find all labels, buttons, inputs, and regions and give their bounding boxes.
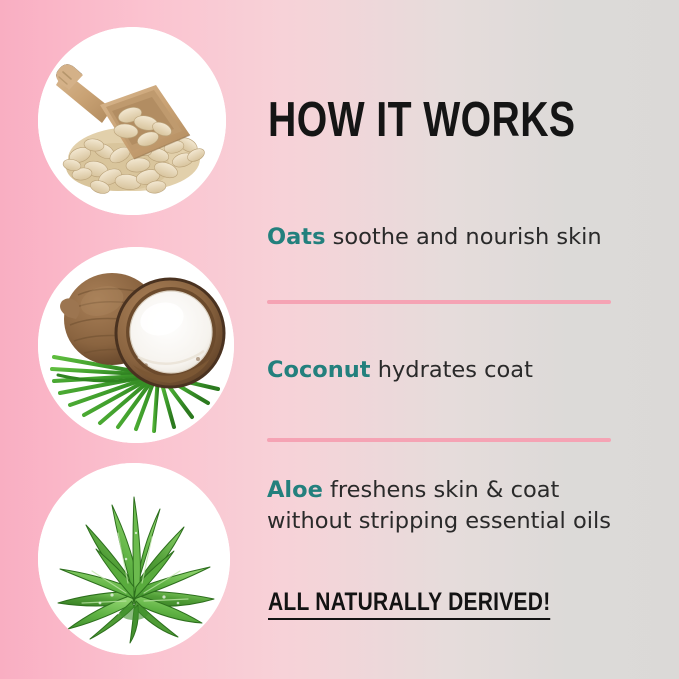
benefit-item-aloe: Aloe freshens skin & coat without stripp… — [267, 475, 627, 537]
ingredient-image-aloe — [38, 463, 230, 655]
divider-line-2 — [267, 438, 611, 442]
benefit-keyword-coconut: Coconut — [267, 357, 371, 383]
benefit-item-coconut: Coconut hydrates coat — [267, 355, 533, 386]
benefit-description-oats: soothe and nourish skin — [325, 224, 601, 250]
aloe-vera-plant-icon — [38, 463, 230, 655]
divider-line-1 — [267, 300, 611, 304]
ingredient-image-oats — [38, 27, 226, 215]
ingredient-image-coconut — [38, 247, 234, 443]
page-title: HOW IT WORKS — [268, 96, 575, 145]
benefit-description-coconut: hydrates coat — [371, 357, 533, 383]
coconut-with-palm-leaf-icon — [38, 247, 234, 443]
tagline: ALL NATURALLY DERIVED! — [268, 589, 550, 620]
how-it-works-infographic: HOW IT WORKS Oats soothe and nourish ski… — [0, 0, 679, 679]
benefit-item-oats: Oats soothe and nourish skin — [267, 222, 602, 253]
benefit-keyword-oats: Oats — [267, 224, 325, 250]
oats-in-wooden-scoop-icon — [38, 27, 226, 215]
content-column: HOW IT WORKS Oats soothe and nourish ski… — [267, 0, 647, 679]
benefit-keyword-aloe: Aloe — [267, 477, 323, 503]
